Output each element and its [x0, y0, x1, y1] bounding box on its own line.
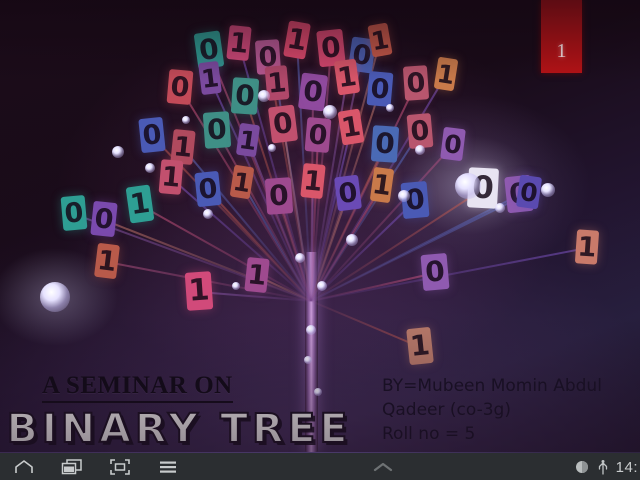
menu-icon [158, 460, 178, 474]
tree-digit-node: 1 [198, 61, 222, 95]
glow-orb [306, 325, 316, 335]
tree-digit-node: 0 [268, 105, 298, 144]
tree-digit-node: 1 [226, 25, 251, 61]
glow-orb [455, 173, 481, 199]
tree-digit-node: 0 [231, 77, 259, 115]
tree-digit-node: 0 [440, 127, 466, 161]
glow-orb [112, 146, 124, 158]
slide-title: BINARY TREE [7, 406, 352, 452]
recents-button[interactable] [48, 453, 96, 480]
slide-byline: BY=Mubeen Momin Abdul Qadeer (co-3g) Rol… [382, 374, 634, 446]
glow-orb [182, 116, 190, 124]
tree-digit-node: 0 [334, 175, 362, 212]
tree-digit-node: 1 [406, 327, 434, 365]
tree-digit-node: 0 [203, 111, 231, 149]
glow-orb [304, 356, 312, 364]
byline-line-1: BY=Mubeen Momin Abdul [382, 374, 634, 398]
glow-orb [415, 145, 425, 155]
tree-digit-node: 0 [265, 177, 293, 215]
tree-digit-node: 0 [167, 69, 194, 105]
glow-orb [40, 282, 70, 312]
glow-orb [295, 253, 305, 263]
android-navigation-bar: 14: [0, 452, 640, 480]
tree-digit-node: 0 [298, 73, 328, 112]
glow-orb [268, 144, 276, 152]
status-icons-group: 14: [574, 459, 640, 476]
byline-line-2: Qadeer (co-3g) [382, 398, 634, 422]
expand-handle[interactable] [192, 461, 574, 473]
tree-digit-node: 1 [367, 23, 392, 58]
nav-buttons-group [0, 453, 192, 480]
tree-digit-node: 0 [420, 253, 449, 291]
glow-orb [386, 104, 394, 112]
tree-digit-node: 0 [371, 125, 399, 163]
tree-digit-node: 0 [305, 117, 332, 153]
page-number-value: 1 [557, 40, 567, 73]
tree-digit-node: 0 [90, 201, 117, 237]
fullscreen-button[interactable] [96, 453, 144, 480]
presentation-slide[interactable]: 0101001010101001010100100000110101010001… [0, 0, 640, 452]
glow-orb [398, 190, 410, 202]
tree-digit-node: 0 [138, 117, 165, 153]
glow-orb [314, 388, 322, 396]
chevron-up-icon [372, 461, 394, 473]
tree-digit-node: 1 [94, 243, 120, 279]
tree-digit-node: 1 [575, 229, 599, 264]
tree-digit-node: 1 [334, 59, 361, 96]
usb-icon[interactable] [597, 459, 609, 475]
tree-digit-node: 1 [300, 163, 325, 199]
tree-digit-node: 1 [370, 167, 395, 203]
fullscreen-icon [110, 459, 130, 475]
tree-digit-node: 1 [185, 271, 214, 311]
tree-branch [311, 300, 421, 348]
glow-orb [203, 209, 213, 219]
byline-line-3: Roll no = 5 [382, 422, 634, 446]
tree-digit-node: 1 [159, 159, 184, 195]
page-number-badge: 1 [541, 0, 582, 73]
tablet-screen: 0101001010101001010100100000110101010001… [0, 0, 640, 480]
glow-orb [495, 203, 505, 213]
glow-orb [346, 234, 358, 246]
glow-orb [258, 90, 270, 102]
glow-orb [541, 183, 555, 197]
glow-orb [323, 105, 337, 119]
home-icon [14, 459, 34, 475]
glow-orb [145, 163, 155, 173]
tree-digit-node: 1 [434, 57, 459, 92]
tree-digit-node: 1 [283, 20, 311, 59]
tree-digit-node: 0 [194, 171, 221, 207]
recents-icon [61, 459, 83, 475]
tree-digit-node: 0 [407, 113, 434, 149]
tree-digit-node: 0 [516, 175, 542, 210]
home-button[interactable] [0, 453, 48, 480]
menu-button[interactable] [144, 453, 192, 480]
status-clock[interactable]: 14: [616, 459, 638, 476]
tree-digit-node: 1 [244, 257, 269, 293]
tree-digit-node: 0 [367, 71, 394, 107]
glow-orb [317, 281, 327, 291]
tree-digit-node: 0 [403, 65, 429, 101]
tree-digit-node: 1 [126, 185, 155, 224]
tree-digit-node: 1 [236, 123, 260, 157]
glow-orb [232, 282, 240, 290]
tree-digit-node: 0 [61, 195, 88, 231]
slide-subheading: A SEMINAR ON [42, 372, 233, 403]
battery-icon[interactable] [574, 459, 590, 475]
